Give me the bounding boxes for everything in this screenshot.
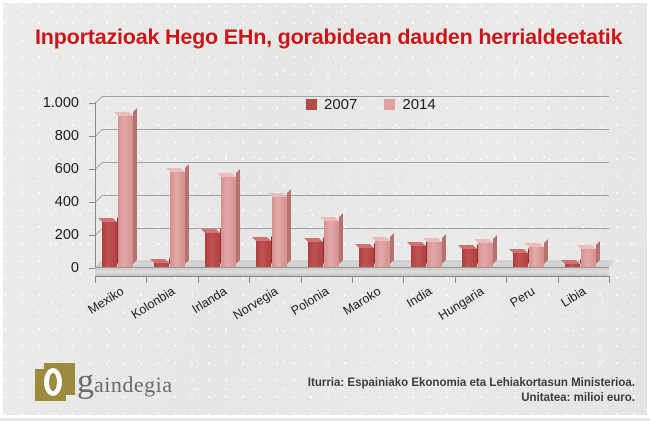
x-axis-tick [301,276,302,283]
gaindegia-logo: gaindegia [35,361,173,403]
x-axis-label-india: India [404,284,434,310]
bar-side [133,108,137,264]
bar-side [287,189,291,264]
bar-peru-2014 [529,247,544,268]
gridline [102,162,609,163]
logo-ring-icon [44,368,62,396]
bar-norvegia-2014 [272,197,287,268]
logo-wordmark-lead: g [77,363,94,400]
bar-face [205,233,220,268]
bar-face [102,222,117,268]
bar-face [170,172,185,268]
footer: gaindegia Iturria: Espainiako Ekonomia e… [3,351,650,415]
bar-face [272,197,287,268]
x-axis-label-irlanda: Irlanda [189,284,229,316]
x-axis-tick [609,276,610,283]
bar-face [513,253,528,268]
gaindegia-logo-icon [35,363,75,401]
bar-face [375,241,390,268]
bar-mexiko-2014 [118,116,133,268]
logo-wordmark: gaindegia [77,367,173,398]
bar-irlanda-2007 [205,233,220,268]
bar-face [324,221,339,268]
bar-face [308,242,323,268]
x-axis-tick [558,276,559,283]
unit-note: Unitatea: milioi euro. [521,392,635,404]
x-axis-label-maroko: Maroko [340,284,383,318]
y-axis-label: 400 [21,194,79,210]
x-axis-tick [403,276,404,283]
bar-hungaria-2007 [462,249,477,268]
x-axis-tick [352,276,353,283]
legend-swatch-2007 [306,99,317,110]
y-axis-label: 200 [21,227,79,243]
x-axis-label-libia: Libia [559,284,589,310]
y-axis-label: 0 [21,260,79,276]
bar-irlanda-2014 [221,177,236,268]
y-axis-label: 800 [21,128,79,144]
bar-face [478,243,493,268]
bar-face [427,242,442,268]
bar-face [118,116,133,268]
bar-libia-2014 [581,249,596,268]
x-axis-tick [146,276,147,283]
x-axis-label-hungaria: Hungaria [435,284,485,323]
bar-polonia-2007 [308,242,323,268]
x-axis-label-polonia: Polonia [289,284,332,318]
logo-notch-top-left [35,363,44,369]
bar-polonia-2014 [324,221,339,268]
legend-label-2007: 2007 [324,96,357,113]
bar-side [442,234,446,264]
x-axis-tick [249,276,250,283]
logo-wordmark-rest: aindegia [94,372,173,397]
x-axis-tick [198,276,199,283]
x-axis-tick [455,276,456,283]
bar-side [390,233,394,264]
bar-peru-2007 [513,253,528,268]
bar-side [493,235,497,264]
bar-mexiko-2007 [102,222,117,268]
chart-page: Inportazioak Hego EHn, gorabidean dauden… [0,0,650,418]
y-axis-label: 1.000 [21,95,79,111]
chart-legend: 2007 2014 [306,96,436,113]
bar-face [411,246,426,268]
bar-india-2007 [411,246,426,268]
legend-swatch-2014 [384,99,395,110]
x-axis-tick [95,276,96,283]
bar-side [185,164,189,264]
bar-norvegia-2007 [256,241,271,268]
x-axis-label-norvegia: Norvegia [230,284,280,322]
source-note: Iturria: Espainiako Ekonomia eta Lehiako… [308,377,635,389]
bar-hungaria-2014 [478,243,493,268]
bar-india-2014 [427,242,442,268]
bar-kolonbia-2014 [170,172,185,268]
bar-face [221,177,236,268]
bar-face [256,241,271,268]
y-axis [95,102,96,269]
bar-maroko-2007 [359,248,374,268]
y-axis-label: 600 [21,161,79,177]
x-axis-label-peru: Peru [507,284,537,310]
gridline [102,129,609,130]
logo-notch-bottom-right [66,395,75,401]
x-axis-label-mexiko: Mexiko [85,284,126,317]
bar-face [581,249,596,268]
legend-label-2014: 2014 [402,96,435,113]
bar-face [529,247,544,268]
bar-side [236,169,240,264]
bar-maroko-2014 [375,241,390,268]
x-axis-label-kolonbia: Kolonbia [129,284,178,322]
bar-face [462,249,477,268]
bar-side [596,241,600,264]
bar-face [359,248,374,268]
x-axis-tick [506,276,507,283]
